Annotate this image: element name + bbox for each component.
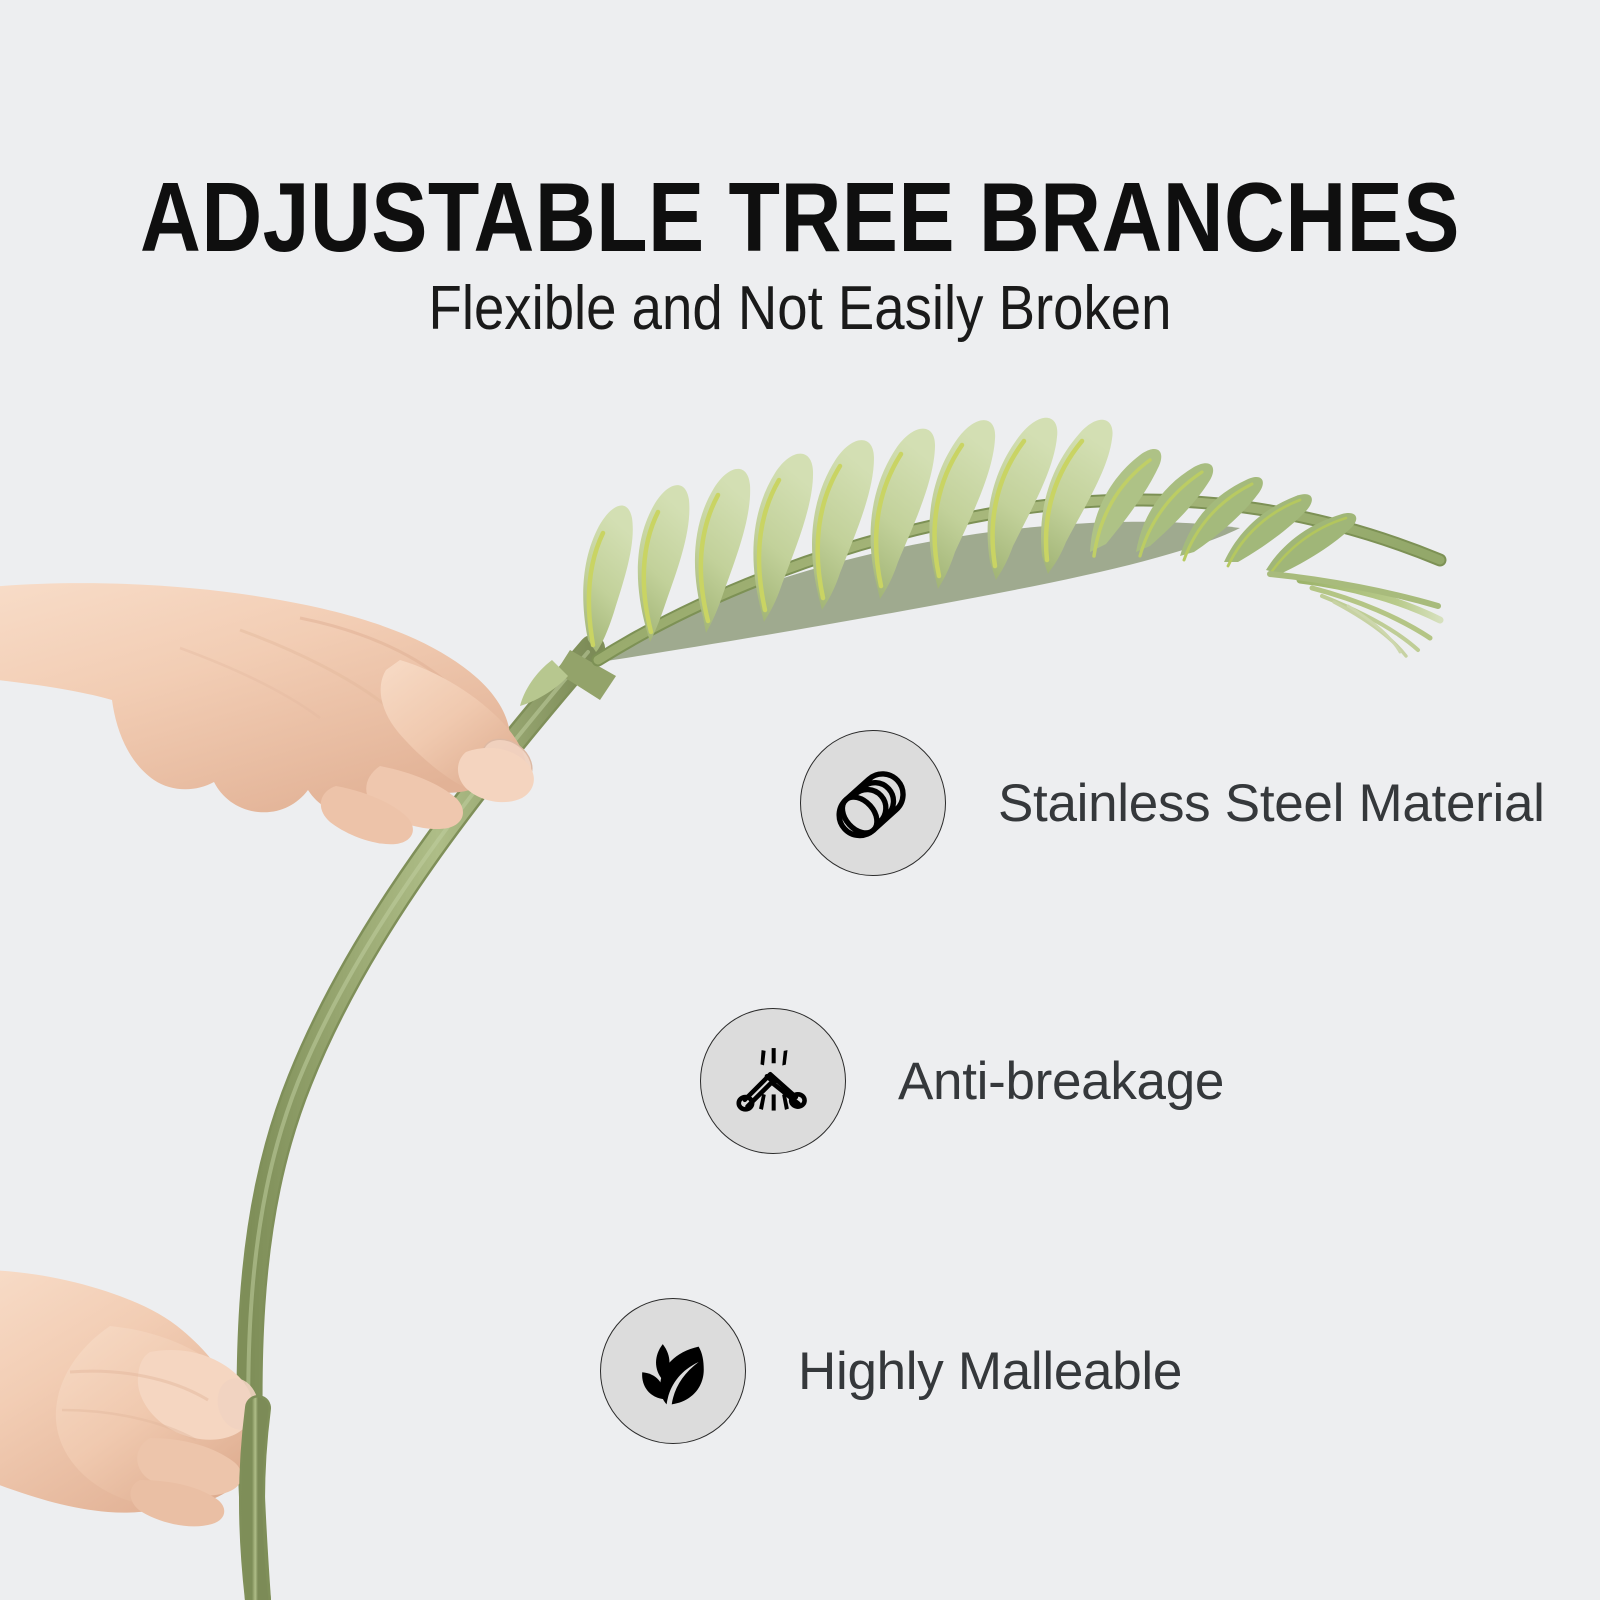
feature-item-highly-malleable: Highly Malleable (600, 1298, 1182, 1444)
palm-frond (520, 418, 1440, 706)
feature-item-stainless-steel: Stainless Steel Material (800, 730, 1545, 876)
stem-front-segment (252, 1408, 258, 1600)
leaves-icon (632, 1330, 714, 1412)
page-subtitle: Flexible and Not Easily Broken (96, 278, 1504, 340)
feature-label: Stainless Steel Material (998, 773, 1545, 834)
frond-tip-strands (1270, 574, 1440, 656)
feature-icon-badge (700, 1008, 846, 1154)
stress-marks-bottom (759, 1094, 789, 1111)
page-title: ADJUSTABLE TREE BRANCHES (112, 168, 1488, 266)
bent-rod-stress-icon (730, 1038, 816, 1124)
feature-label: Anti-breakage (898, 1051, 1224, 1112)
stress-marks-top (761, 1048, 788, 1065)
steel-rod-icon (832, 762, 914, 844)
lower-hand (0, 1270, 264, 1527)
feature-item-anti-breakage: Anti-breakage (700, 1008, 1224, 1154)
feature-icon-badge (800, 730, 946, 876)
feature-label: Highly Malleable (798, 1341, 1182, 1402)
feature-icon-badge (600, 1298, 746, 1444)
upper-hand (0, 583, 541, 844)
product-feature-image: ADJUSTABLE TREE BRANCHES Flexible and No… (0, 0, 1600, 1600)
